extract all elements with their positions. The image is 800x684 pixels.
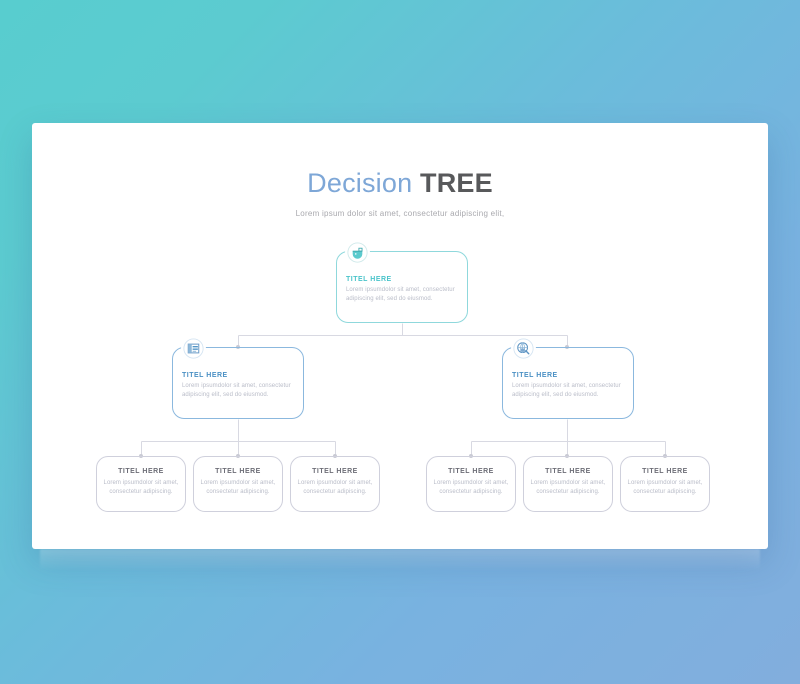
node-title: TITEL HERE xyxy=(103,468,179,475)
node-description: Lorem ipsumdolor sit amet, consectetur a… xyxy=(530,479,606,498)
node-description: Lorem ipsumdolor sit amet, consectetur a… xyxy=(627,479,703,498)
node-description: Lorem ipsumdolor sit amet, consectetur a… xyxy=(103,479,179,498)
tree-leaf-node[interactable]: TITEL HERE Lorem ipsumdolor sit amet, co… xyxy=(523,456,613,512)
globe-search-icon xyxy=(511,336,536,361)
node-title: TITEL HERE xyxy=(512,372,626,379)
tree-node-branch-left[interactable]: TITEL HERE Lorem ipsumdolor sit amet, co… xyxy=(172,347,304,419)
node-title: TITEL HERE xyxy=(200,468,276,475)
node-body: TITEL HERE Lorem ipsumdolor sit amet, co… xyxy=(433,468,509,498)
node-title: TITEL HERE xyxy=(346,276,460,283)
document-layout-icon xyxy=(181,336,206,361)
node-description: Lorem ipsumdolor sit amet, consectetur a… xyxy=(346,286,460,305)
node-body: TITEL HERE Lorem ipsumdolor sit amet, co… xyxy=(200,468,276,498)
slide-card: Decision TREE Lorem ipsum dolor sit amet… xyxy=(32,123,768,549)
tree-leaf-node[interactable]: TITEL HERE Lorem ipsumdolor sit amet, co… xyxy=(426,456,516,512)
node-title: TITEL HERE xyxy=(627,468,703,475)
tree-node-branch-right[interactable]: TITEL HERE Lorem ipsumdolor sit amet, co… xyxy=(502,347,634,419)
node-title: TITEL HERE xyxy=(433,468,509,475)
card-reflection xyxy=(40,549,760,571)
tree-leaf-node[interactable]: TITEL HERE Lorem ipsumdolor sit amet, co… xyxy=(290,456,380,512)
node-body: TITEL HERE Lorem ipsumdolor sit amet, co… xyxy=(512,372,626,401)
node-description: Lorem ipsumdolor sit amet, consectetur a… xyxy=(297,479,373,498)
node-description: Lorem ipsumdolor sit amet, consectetur a… xyxy=(182,382,296,401)
node-body: TITEL HERE Lorem ipsumdolor sit amet, co… xyxy=(103,468,179,498)
node-body: TITEL HERE Lorem ipsumdolor sit amet, co… xyxy=(182,372,296,401)
node-body: TITEL HERE Lorem ipsumdolor sit amet, co… xyxy=(627,468,703,498)
node-body: TITEL HERE Lorem ipsumdolor sit amet, co… xyxy=(346,276,460,305)
tree-node-root[interactable]: TITEL HERE Lorem ipsumdolor sit amet, co… xyxy=(336,251,468,323)
node-body: TITEL HERE Lorem ipsumdolor sit amet, co… xyxy=(530,468,606,498)
node-body: TITEL HERE Lorem ipsumdolor sit amet, co… xyxy=(297,468,373,498)
node-title: TITEL HERE xyxy=(297,468,373,475)
tree-leaf-node[interactable]: TITEL HERE Lorem ipsumdolor sit amet, co… xyxy=(193,456,283,512)
fishbowl-icon xyxy=(345,240,370,265)
node-description: Lorem ipsumdolor sit amet, consectetur a… xyxy=(433,479,509,498)
tree-leaf-node[interactable]: TITEL HERE Lorem ipsumdolor sit amet, co… xyxy=(620,456,710,512)
node-description: Lorem ipsumdolor sit amet, consectetur a… xyxy=(200,479,276,498)
node-description: Lorem ipsumdolor sit amet, consectetur a… xyxy=(512,382,626,401)
tree-leaf-node[interactable]: TITEL HERE Lorem ipsumdolor sit amet, co… xyxy=(96,456,186,512)
node-title: TITEL HERE xyxy=(530,468,606,475)
node-title: TITEL HERE xyxy=(182,372,296,379)
decision-tree-diagram: TITEL HERE Lorem ipsumdolor sit amet, co… xyxy=(32,123,768,549)
